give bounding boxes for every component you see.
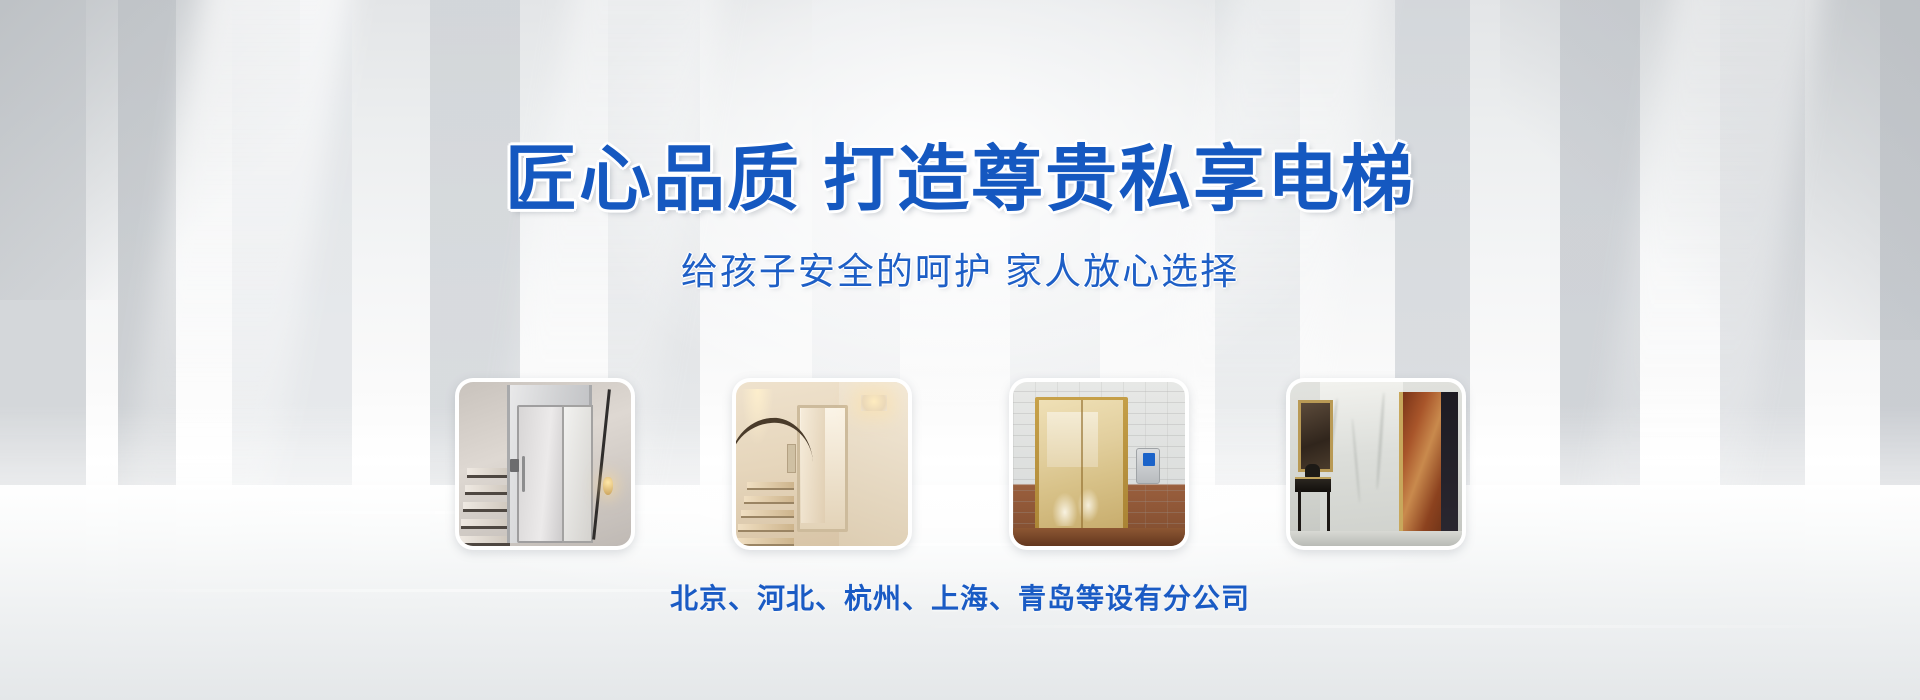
photo-thumbnail-silver-elevator[interactable] xyxy=(455,378,635,550)
call-panel-screen xyxy=(1143,453,1155,466)
elevator-cabin-interior xyxy=(1441,392,1458,536)
page-subtitle: 给孩子安全的呵护 家人放心选择 xyxy=(0,253,1920,290)
chandelier-light xyxy=(861,395,887,411)
photo-image-cream-hallway xyxy=(736,382,908,546)
photo-image-silver-elevator xyxy=(459,382,631,546)
photo-thumbnail-strip xyxy=(0,378,1920,550)
floor-light-streak xyxy=(900,625,1900,628)
door-handle xyxy=(522,456,525,492)
branch-offices-caption: 北京、河北、杭州、上海、青岛等设有分公司 xyxy=(0,585,1920,613)
stair-railing xyxy=(592,389,611,539)
elevator-door-open xyxy=(562,405,594,543)
lobby-floor xyxy=(1290,531,1462,546)
staircase xyxy=(459,454,511,546)
photo-image-gold-glass-door xyxy=(1013,382,1185,546)
wood-floor xyxy=(1013,528,1185,546)
page-title: 匠心品质 打造尊贵私享电梯 xyxy=(0,144,1920,216)
photo-image-marble-lobby xyxy=(1290,382,1462,546)
door-split-line xyxy=(1081,400,1083,528)
wall-sconce-light xyxy=(603,477,613,495)
photo-thumbnail-gold-glass-door[interactable] xyxy=(1009,378,1189,550)
call-panel xyxy=(510,459,519,472)
photo-thumbnail-cream-hallway[interactable] xyxy=(732,378,912,550)
framed-mirror xyxy=(1298,400,1333,472)
hero-banner: 匠心品质 打造尊贵私享电梯 给孩子安全的呵护 家人放心选择 xyxy=(0,0,1920,700)
etched-glass-pattern xyxy=(1043,457,1115,526)
photo-thumbnail-marble-lobby[interactable] xyxy=(1286,378,1466,550)
